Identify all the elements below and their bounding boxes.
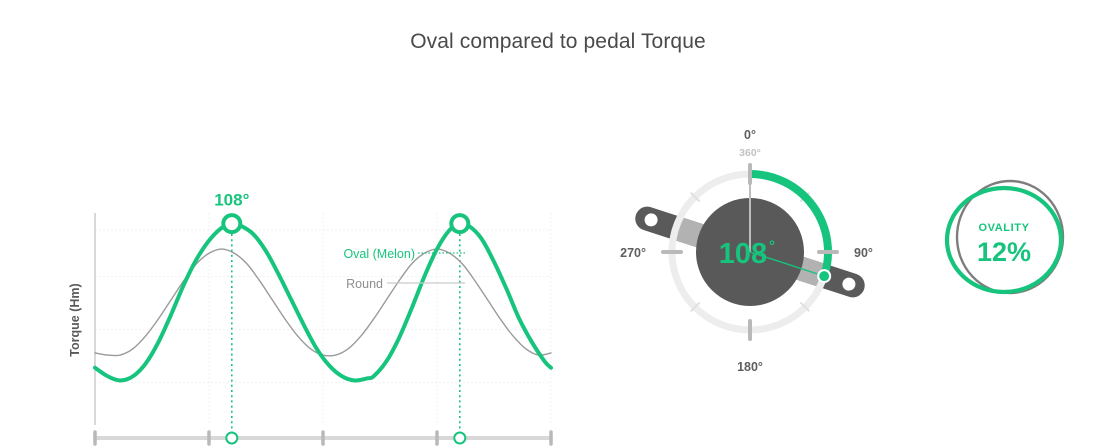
dial-label-90: 90° [854,246,873,260]
peak-marker [223,215,240,232]
crank-dial-panel: 108 ° 0° 360° 90° 180° 270° [600,115,900,385]
page-title: Oval compared to pedal Torque [0,30,1116,54]
legend-item-round: Round [346,277,383,291]
dial-label-0: 0° [744,128,756,142]
legend-item-oval: Oval (Melon) [343,247,415,261]
dial-arc-end-dot [818,270,830,282]
peak-marker [451,215,468,232]
chart-gridlines [95,213,551,425]
dial-center-value: 108 [719,238,767,270]
axis-angle-marker [226,433,237,444]
y-axis-title: Torque (Hm) [68,283,82,356]
peak-angle-annotation: 108° [214,191,249,210]
axis-angle-marker [454,433,465,444]
crank-angle-dial: 108 ° 0° 360° 90° 180° 270° [600,115,900,385]
ovality-caption: OVALITY [978,222,1029,234]
chart-legend: Oval (Melon) Round [343,247,465,291]
ovality-indicator: OVALITY 12% [900,165,1116,325]
dial-label-180: 180° [737,360,763,374]
ovality-value: 12% [977,237,1031,267]
dial-label-360: 360° [739,147,761,159]
dial-label-270: 270° [620,246,646,260]
torque-chart: 108° Oval (Melon) Round Torque (Hm) Cran… [0,95,600,415]
torque-chart-panel: 108° Oval (Melon) Round Torque (Hm) Cran… [0,95,600,415]
dial-center-degree-symbol: ° [769,238,775,255]
ovality-panel: OVALITY 12% [900,165,1116,325]
